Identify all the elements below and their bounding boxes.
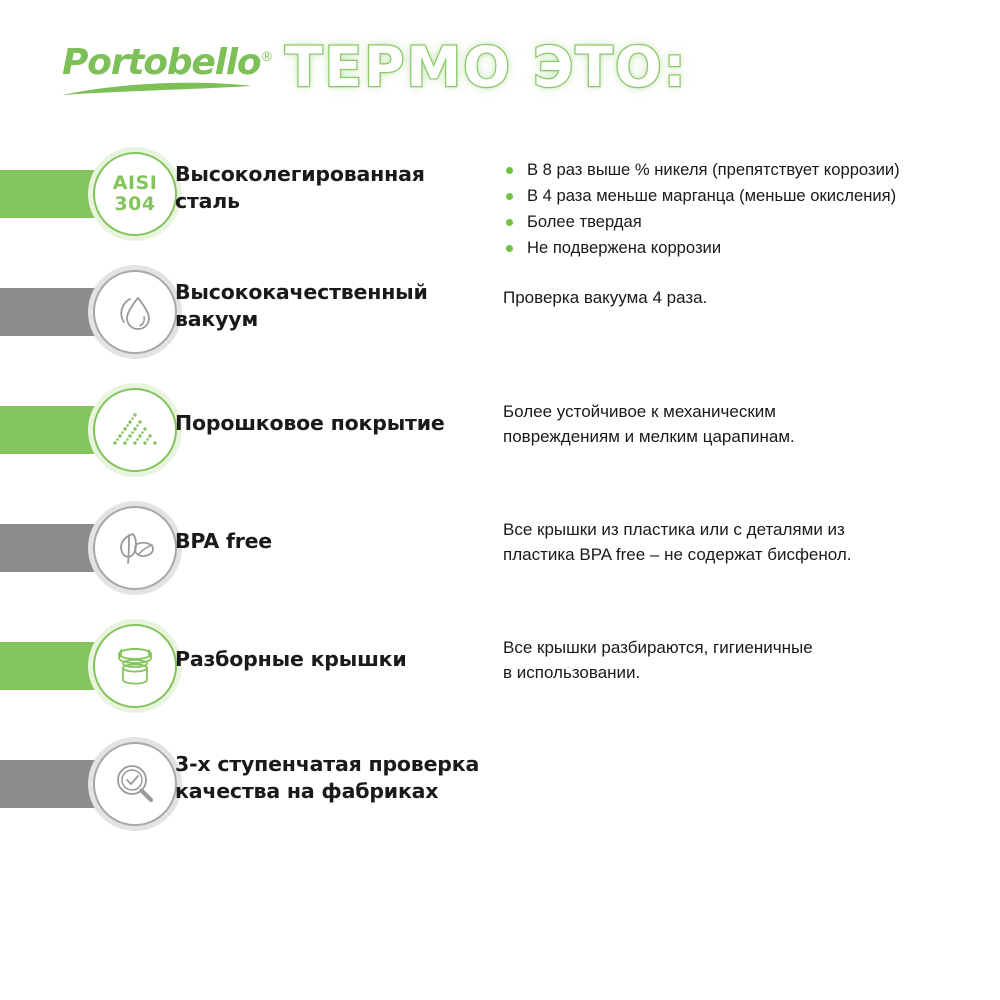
list-item-text: Более твердая <box>527 212 642 231</box>
icon-ring-glow <box>88 619 182 713</box>
list-item-text: В 8 раз выше % никеля (препятствует корр… <box>527 160 900 179</box>
water-drop-vacuum-icon <box>93 270 177 354</box>
bullet-dot-icon <box>506 193 513 200</box>
feature-body-line-1: Все крышки из пластика или с деталями из <box>503 517 993 542</box>
feature-body-line-2: пластика BPA free – не содержат бисфенол… <box>503 542 993 567</box>
feature-row-lids: Разборные крышки Все крышки разбираются,… <box>0 607 1000 725</box>
feature-bullet-list: В 8 раз выше % никеля (препятствует корр… <box>503 157 993 261</box>
feature-row-vacuum: Высококачественный вакуум Проверка вакуу… <box>0 253 1000 371</box>
icon-ring-glow <box>88 383 182 477</box>
icon-ring-glow: AISI 304 <box>88 147 182 241</box>
feature-row-bpa-free: BPA free Все крышки из пластика или с де… <box>0 489 1000 607</box>
feature-title: BPA free <box>175 528 495 555</box>
leaf-bpa-free-icon <box>93 506 177 590</box>
magnifier-check-quality-icon <box>93 742 177 826</box>
feature-row-powder-coating: Порошковое покрытие Более устойчивое к м… <box>0 371 1000 489</box>
icon-ring-glow <box>88 737 182 831</box>
page-title: ТЕРМО ЭТО: <box>285 31 688 103</box>
feature-body: Проверка вакуума 4 раза. <box>503 285 993 310</box>
feature-body: Более устойчивое к механическим поврежде… <box>503 399 993 449</box>
feature-body: Все крышки разбираются, гигиеничные в ис… <box>503 635 993 685</box>
logo-swoosh-icon <box>62 80 258 96</box>
bullet-dot-icon <box>506 167 513 174</box>
list-item: В 4 раза меньше марганца (меньше окислен… <box>503 183 993 209</box>
feature-body-line-2: в использовании. <box>503 660 993 685</box>
powder-dots-icon <box>93 388 177 472</box>
aisi-grade: 304 <box>113 194 158 215</box>
aisi-label: AISI <box>113 173 158 194</box>
feature-body: Все крышки из пластика или с деталями из… <box>503 517 993 567</box>
feature-title: Высококачественный вакуум <box>175 279 495 333</box>
feature-list: AISI 304 Высоколегированная сталь В 8 ра… <box>0 135 1000 843</box>
list-item-text: В 4 раза меньше марганца (меньше окислен… <box>527 186 896 205</box>
feature-title: Высоколегированная сталь <box>175 161 495 215</box>
bullet-dot-icon <box>506 219 513 226</box>
list-item: В 8 раз выше % никеля (препятствует корр… <box>503 157 993 183</box>
feature-row-steel: AISI 304 Высоколегированная сталь В 8 ра… <box>0 135 1000 253</box>
feature-body-line-1: Более устойчивое к механическим <box>503 399 993 424</box>
aisi-304-badge-icon: AISI 304 <box>93 152 177 236</box>
feature-body-line-1: Все крышки разбираются, гигиеничные <box>503 635 993 660</box>
feature-title: Разборные крышки <box>175 646 495 673</box>
list-item: Более твердая <box>503 209 993 235</box>
feature-body-text: Проверка вакуума 4 раза. <box>503 285 993 310</box>
feature-row-quality-check: 3-х ступенчатая проверка качества на фаб… <box>0 725 1000 843</box>
logo-wordmark: Portobello® <box>62 38 262 83</box>
icon-ring-glow <box>88 265 182 359</box>
feature-title: Порошковое покрытие <box>175 410 495 437</box>
logo-text: Portobello <box>62 42 260 83</box>
bullet-dot-icon <box>506 245 513 252</box>
registered-trademark-icon: ® <box>260 50 272 65</box>
feature-title: 3-х ступенчатая проверка качества на фаб… <box>175 751 495 805</box>
feature-body-line-2: повреждениям и мелким царапинам. <box>503 424 993 449</box>
disassemblable-lid-icon <box>93 624 177 708</box>
page-header: Portobello® ТЕРМО ЭТО: <box>0 0 1000 135</box>
icon-ring-glow <box>88 501 182 595</box>
portobello-logo: Portobello® <box>62 38 262 100</box>
page-title-text: ТЕРМО ЭТО: <box>285 32 688 102</box>
